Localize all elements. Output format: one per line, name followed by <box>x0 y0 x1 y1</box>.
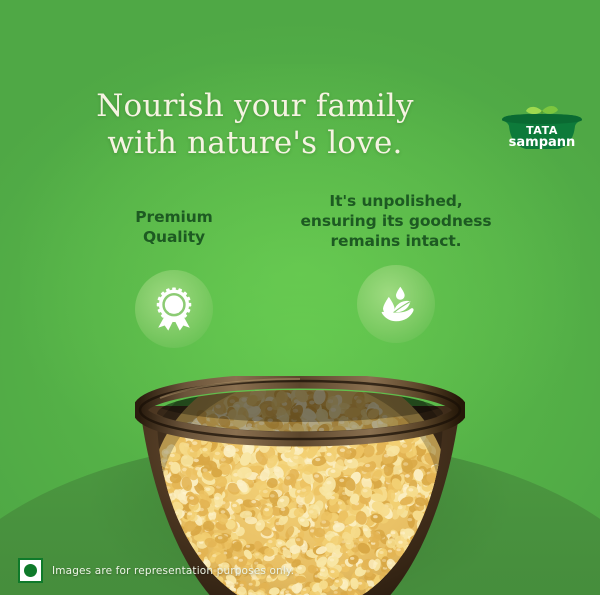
vegetarian-mark-icon <box>18 558 43 583</box>
feature-line-2: ensuring its goodness <box>300 212 491 232</box>
advertisement-canvas: TATA sampann Nourish your family with na… <box>0 0 600 595</box>
feature-line-2: Quality <box>135 228 212 248</box>
feature-premium-quality: Premium Quality <box>89 192 259 348</box>
feature-unpolished-icon-circle <box>357 265 435 343</box>
feature-premium-quality-icon-circle <box>135 270 213 348</box>
feature-line-1: Premium <box>135 208 212 228</box>
hand-leaf-droplet-icon <box>373 281 419 327</box>
feature-unpolished: It's unpolished, ensuring its goodness r… <box>281 192 511 343</box>
feature-line-1: It's unpolished, <box>300 192 491 212</box>
award-ribbon-icon <box>151 286 197 332</box>
disclaimer-text: Images are for representation purposes o… <box>52 565 294 577</box>
vegetarian-mark-dot <box>24 564 37 577</box>
footer: Images are for representation purposes o… <box>18 558 294 583</box>
headline: Nourish your family with nature's love. <box>0 88 600 161</box>
feature-unpolished-text: It's unpolished, ensuring its goodness r… <box>300 192 491 251</box>
feature-line-3: remains intact. <box>300 232 491 252</box>
feature-list: Premium Quality <box>0 192 600 348</box>
headline-line-1: Nourish your family <box>96 88 414 124</box>
feature-premium-quality-text: Premium Quality <box>135 192 212 248</box>
headline-line-2: with nature's love. <box>60 125 450 162</box>
